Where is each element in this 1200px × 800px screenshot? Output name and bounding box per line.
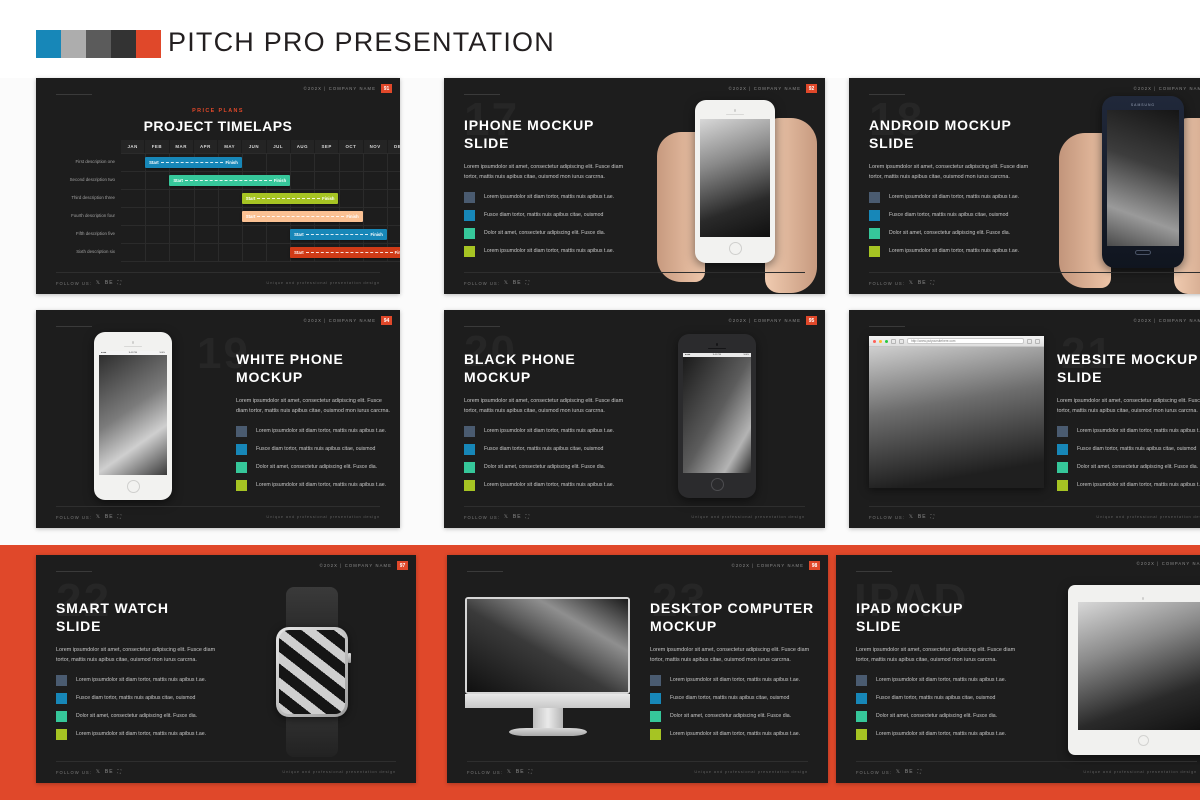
slide-meta: ©202X | COMPANY NAME 95 xyxy=(729,316,817,325)
slide-website-mockup[interactable]: ©202X | COMPANY NAME 96 21 http://www.pu… xyxy=(849,310,1200,528)
gantt-bar-connector xyxy=(306,252,393,253)
slide-paragraph: Lorem ipsumdolor sit amet, consectetur a… xyxy=(56,645,224,665)
slide-meta-text: ©202X | COMPANY NAME xyxy=(304,86,376,91)
slide-project-timelaps[interactable]: ©202X | COMPANY NAME 91 PRICE PLANS PROJ… xyxy=(36,78,400,294)
slide-ipad-mockup[interactable]: ©202X | COMPANY NAME IPAD IPAD MOCKUP SL… xyxy=(836,555,1200,783)
slide-number-badge: 94 xyxy=(381,316,392,325)
brand-swatch-2 xyxy=(61,30,86,58)
minimize-icon[interactable] xyxy=(879,340,882,343)
slide-footer: FOLLOW US: 𝕏 Be ⛶ Unique and professiona… xyxy=(36,272,400,294)
bullet-color-chip xyxy=(1057,462,1068,473)
bullet-color-chip xyxy=(650,675,661,686)
bullet-item: Fusce diam tortor, mattis nuis apibus ci… xyxy=(56,693,226,704)
website-photo xyxy=(869,347,1044,488)
bullet-text: Lorem ipsumdolor sit diam tortor, mattis… xyxy=(876,677,1006,684)
phone-screen: ●●●●9:41 PM100% xyxy=(683,353,751,473)
bullet-color-chip xyxy=(464,228,475,239)
gantt-bar[interactable]: StartFinish xyxy=(242,193,339,204)
gantt-month-cell: MAR xyxy=(170,140,194,153)
slide-cell-ipad-mockup: ©202X | COMPANY NAME IPAD IPAD MOCKUP SL… xyxy=(808,545,1200,800)
slide-heading: WEBSITE MOCKUP SLIDE xyxy=(1057,350,1200,387)
bullet-item: Lorem ipsumdolor sit diam tortor, mattis… xyxy=(869,246,1049,257)
bullet-color-chip xyxy=(236,480,247,491)
iphone-device: ●●●●9:41 PM100% xyxy=(94,332,172,500)
camera-icon xyxy=(1142,597,1145,600)
bullet-color-chip xyxy=(56,675,67,686)
browser-window-mockup: http://www.putyoursitehere.com xyxy=(869,336,1044,488)
iphone-device: ●●●●9:41 PM100% xyxy=(678,334,756,498)
gantt-bar-finish-label: Finish xyxy=(274,178,286,183)
brand-color-swatches xyxy=(36,30,161,58)
iphone-black-mockup: ●●●●9:41 PM100% xyxy=(678,334,756,498)
facebook-icon[interactable]: ⛶ xyxy=(526,514,531,520)
gantt-bar-finish-label: Finish xyxy=(322,196,334,201)
heading-line-1: IPAD MOCKUP xyxy=(856,600,963,616)
slide-cell-android-mockup: ©202X | COMPANY NAME 93 18 ANDROID MOCKU… xyxy=(808,78,1200,310)
bullet-item: Fusce diam tortor, mattis nuis apibus ci… xyxy=(464,210,644,221)
heading-line-2: SLIDE xyxy=(856,618,901,634)
gantt-task-label: Third description three xyxy=(71,195,115,200)
bullet-color-chip xyxy=(1057,426,1068,437)
bullet-item: Fusce diam tortor, mattis nuis apibus ci… xyxy=(856,693,1026,704)
follow-us: FOLLOW US: 𝕏 Be ⛶ xyxy=(464,280,530,286)
bullet-item: Lorem ipsumdolor sit diam tortor, mattis… xyxy=(856,675,1026,686)
home-button xyxy=(127,480,140,493)
home-button xyxy=(1135,250,1151,255)
imac-stand-neck xyxy=(533,708,563,728)
gantt-bar-finish-label: Finish xyxy=(346,214,358,219)
follow-label: FOLLOW US: xyxy=(464,281,500,286)
brand-swatch-5 xyxy=(136,30,161,58)
slide-heading: IPHONE MOCKUP SLIDE xyxy=(464,116,644,153)
bullet-list: Lorem ipsumdolor sit diam tortor, mattis… xyxy=(869,192,1049,257)
facebook-icon[interactable]: ⛶ xyxy=(118,280,123,286)
facebook-icon[interactable]: ⛶ xyxy=(526,280,531,286)
twitter-icon[interactable]: 𝕏 xyxy=(96,280,101,286)
imac-stand-base xyxy=(509,728,587,736)
iphone-white-mockup: ●●●●9:41 PM100% xyxy=(94,332,172,500)
bullet-list: Lorem ipsumdolor sit diam tortor, mattis… xyxy=(1057,426,1200,491)
bullet-text: Dolor sit amet, consectetur adipiscing e… xyxy=(1077,464,1198,471)
bullet-color-chip xyxy=(464,210,475,221)
bullet-item: Lorem ipsumdolor sit diam tortor, mattis… xyxy=(464,192,644,203)
bullet-color-chip xyxy=(464,462,475,473)
slide-meta-text: ©202X | COMPANY NAME xyxy=(320,563,392,568)
ipad-screen xyxy=(1078,602,1200,730)
bullet-text: Dolor sit amet, consectetur adipiscing e… xyxy=(256,464,377,471)
gantt-gridline-horizontal xyxy=(121,207,400,208)
speaker-grill xyxy=(726,114,744,116)
bullet-text: Fusce diam tortor, mattis nuis apibus ci… xyxy=(670,695,789,702)
heading-line-1: ANDROID MOCKUP xyxy=(869,117,1012,133)
bullet-item: Lorem ipsumdolor sit diam tortor, mattis… xyxy=(869,192,1049,203)
footer-tagline: Unique and professional presentation des… xyxy=(691,514,805,519)
slide-paragraph: Lorem ipsumdolor sit amet, consectetur a… xyxy=(464,396,629,416)
slide-meta-text: ©202X | COMPANY NAME xyxy=(304,318,376,323)
gantt-bar-start-label: Start xyxy=(294,232,304,237)
footer-divider xyxy=(56,761,396,762)
slide-heading: DESKTOP COMPUTER MOCKUP xyxy=(650,599,820,636)
bullet-color-chip xyxy=(56,693,67,704)
gantt-month-cell: MAY xyxy=(218,140,242,153)
ipad-mockup xyxy=(1068,585,1200,755)
slide-heading: SMART WATCH SLIDE xyxy=(56,599,226,636)
digital-crown[interactable] xyxy=(348,653,351,663)
chart-title: PROJECT TIMELAPS xyxy=(36,118,400,134)
heading-line-2: SLIDE xyxy=(869,135,914,151)
slide-meta-text: ©202X | COMPANY NAME xyxy=(1137,561,1200,566)
bullet-text: Dolor sit amet, consectetur adipiscing e… xyxy=(670,713,791,720)
bullet-color-chip xyxy=(869,228,880,239)
gantt-month-cell: JUN xyxy=(242,140,266,153)
slide-heading: IPAD MOCKUP SLIDE xyxy=(856,599,1026,636)
gantt-task-label: Fourth description four xyxy=(71,213,115,218)
follow-us: FOLLOW US: 𝕏 Be ⛶ xyxy=(856,769,922,775)
slide-heading: ANDROID MOCKUP SLIDE xyxy=(869,116,1049,153)
footer-divider xyxy=(869,272,1200,273)
gantt-month-cell: SEP xyxy=(315,140,339,153)
behance-icon[interactable]: Be xyxy=(105,514,114,520)
bullet-item: Dolor sit amet, consectetur adipiscing e… xyxy=(236,462,391,473)
screen-photo xyxy=(1107,110,1179,246)
bullet-text: Lorem ipsumdolor sit diam tortor, mattis… xyxy=(484,248,614,255)
twitter-icon[interactable]: 𝕏 xyxy=(504,280,509,286)
gantt-gridline-horizontal xyxy=(121,225,400,226)
gantt-task-label: First description one xyxy=(75,159,115,164)
follow-us: FOLLOW US: 𝕏 Be ⛶ xyxy=(56,769,122,775)
gantt-month-cell: AUG xyxy=(291,140,315,153)
slide-meta: ©202X | COMPANY NAME xyxy=(1137,561,1200,566)
slide-paragraph: Lorem ipsumdolor sit amet, consectetur a… xyxy=(856,645,1024,665)
slide-meta: ©202X | COMPANY NAME 94 xyxy=(304,316,392,325)
phone-screen xyxy=(1107,110,1179,246)
bullet-item: Dolor sit amet, consectetur adipiscing e… xyxy=(869,228,1049,239)
twitter-icon[interactable]: 𝕏 xyxy=(96,769,101,775)
bullet-list: Lorem ipsumdolor sit diam tortor, mattis… xyxy=(464,192,644,257)
footer-tagline: Unique and professional presentation des… xyxy=(1096,514,1200,519)
slide-black-phone-mockup[interactable]: ©202X | COMPANY NAME 95 20 BLACK PHONE M… xyxy=(444,310,825,528)
slide-footer: FOLLOW US: 𝕏 Be ⛶ Unique and professiona… xyxy=(444,506,825,528)
bullet-text: Dolor sit amet, consectetur adipiscing e… xyxy=(76,713,197,720)
gantt-month-cell: FEB xyxy=(145,140,169,153)
corner-tick xyxy=(56,94,92,95)
behance-icon[interactable]: Be xyxy=(516,769,525,775)
heading-line-1: WHITE PHONE xyxy=(236,351,344,367)
slide-content: WEBSITE MOCKUP SLIDE Lorem ipsumdolor si… xyxy=(1057,350,1200,491)
slide-paragraph: Lorem ipsumdolor sit amet, consectetur a… xyxy=(1057,396,1200,416)
bullet-color-chip xyxy=(650,711,661,722)
footer-tagline: Unique and professional presentation des… xyxy=(694,769,808,774)
slide-row-2: ©202X | COMPANY NAME 94 19 ●●●●9:41 PM10… xyxy=(0,310,1200,545)
chart-eyebrow: PRICE PLANS xyxy=(36,108,400,114)
bullet-text: Fusce diam tortor, mattis nuis apibus ci… xyxy=(256,446,375,453)
imac-mockup xyxy=(465,597,630,742)
bullet-color-chip xyxy=(236,444,247,455)
bullet-item: Lorem ipsumdolor sit diam tortor, mattis… xyxy=(464,246,644,257)
gantt-bar-connector xyxy=(257,216,344,217)
bullet-color-chip xyxy=(1057,480,1068,491)
bullet-item: Fusce diam tortor, mattis nuis apibus ci… xyxy=(1057,444,1200,455)
twitter-icon[interactable]: 𝕏 xyxy=(507,769,512,775)
slide-cell-white-phone: ©202X | COMPANY NAME 94 19 ●●●●9:41 PM10… xyxy=(0,310,400,545)
bullet-color-chip xyxy=(464,192,475,203)
heading-line-2: MOCKUP xyxy=(650,618,717,634)
reload-icon[interactable] xyxy=(1035,339,1040,344)
bullet-item: Dolor sit amet, consectetur adipiscing e… xyxy=(56,711,226,722)
slide-android-mockup[interactable]: ©202X | COMPANY NAME 93 18 ANDROID MOCKU… xyxy=(849,78,1200,294)
bullet-item: Lorem ipsumdolor sit diam tortor, mattis… xyxy=(1057,480,1200,491)
slide-content: SMART WATCH SLIDE Lorem ipsumdolor sit a… xyxy=(56,599,226,740)
behance-icon[interactable]: Be xyxy=(918,514,927,520)
bullet-list: Lorem ipsumdolor sit diam tortor, mattis… xyxy=(650,675,820,740)
bullet-color-chip xyxy=(856,675,867,686)
gantt-bar[interactable]: StartFinish xyxy=(290,229,387,240)
gantt-bar[interactable]: StartFinish xyxy=(145,157,242,168)
follow-us: FOLLOW US: 𝕏 Be ⛶ xyxy=(869,280,935,286)
bullet-list: Lorem ipsumdolor sit diam tortor, mattis… xyxy=(236,426,391,491)
slide-footer: FOLLOW US: 𝕏 Be ⛶ xyxy=(444,272,825,294)
bullet-text: Lorem ipsumdolor sit diam tortor, mattis… xyxy=(889,194,1019,201)
follow-label: FOLLOW US: xyxy=(56,770,92,775)
bullet-item: Lorem ipsumdolor sit diam tortor, mattis… xyxy=(56,675,226,686)
slide-meta-text: ©202X | COMPANY NAME xyxy=(1134,318,1200,323)
maximize-icon[interactable] xyxy=(885,340,888,343)
screen-photo xyxy=(99,355,167,475)
forward-icon[interactable] xyxy=(899,339,904,344)
imac-chin xyxy=(465,694,630,708)
corner-tick xyxy=(56,326,92,327)
facebook-icon[interactable]: ⛶ xyxy=(931,514,936,520)
close-icon[interactable] xyxy=(873,340,876,343)
bullet-item: Lorem ipsumdolor sit diam tortor, mattis… xyxy=(856,729,1026,740)
behance-icon[interactable]: Be xyxy=(905,769,914,775)
slide-desktop-computer-mockup[interactable]: ©202X | COMPANY NAME 98 23 DESKTOP COMPU… xyxy=(447,555,828,783)
behance-icon[interactable]: Be xyxy=(918,280,927,286)
gantt-bar-connector xyxy=(161,162,224,163)
facebook-icon[interactable]: ⛶ xyxy=(918,769,923,775)
gantt-bar-start-label: Start xyxy=(294,250,304,255)
twitter-icon[interactable]: 𝕏 xyxy=(504,514,509,520)
bullet-text: Lorem ipsumdolor sit diam tortor, mattis… xyxy=(256,428,386,435)
bullet-text: Lorem ipsumdolor sit diam tortor, mattis… xyxy=(256,482,386,489)
bullet-text: Fusce diam tortor, mattis nuis apibus ci… xyxy=(76,695,195,702)
slide-content: DESKTOP COMPUTER MOCKUP Lorem ipsumdolor… xyxy=(650,599,820,740)
camera-icon xyxy=(132,341,135,344)
home-button xyxy=(711,478,724,491)
bullet-item: Lorem ipsumdolor sit diam tortor, mattis… xyxy=(650,729,820,740)
apple-watch-mockup xyxy=(258,587,368,757)
bullet-color-chip xyxy=(856,711,867,722)
bullet-item: Dolor sit amet, consectetur adipiscing e… xyxy=(464,462,629,473)
heading-line-2: SLIDE xyxy=(464,135,509,151)
bullet-text: Lorem ipsumdolor sit diam tortor, mattis… xyxy=(484,482,614,489)
slide-paragraph: Lorem ipsumdolor sit amet, consectetur a… xyxy=(869,162,1037,182)
slide-row-3: ©202X | COMPANY NAME 97 22 SMART WATCH S… xyxy=(0,545,1200,800)
brand-swatch-4 xyxy=(111,30,136,58)
gantt-task-label: Second description two xyxy=(70,177,115,182)
bullet-color-chip xyxy=(464,444,475,455)
gantt-task-label: Sixth description six xyxy=(76,249,115,254)
iphone-device xyxy=(695,100,775,263)
bullet-color-chip xyxy=(464,480,475,491)
slide-meta: ©202X | COMPANY NAME 97 xyxy=(320,561,408,570)
share-icon[interactable] xyxy=(1027,339,1032,344)
behance-icon[interactable]: Be xyxy=(105,769,114,775)
twitter-icon[interactable]: 𝕏 xyxy=(896,769,901,775)
follow-label: FOLLOW US: xyxy=(869,515,905,520)
bullet-color-chip xyxy=(56,711,67,722)
back-icon[interactable] xyxy=(891,339,896,344)
footer-tagline: Unique and professional presentation des… xyxy=(266,514,380,519)
footer-tagline: Unique and professional presentation des… xyxy=(282,769,396,774)
gantt-bar-connector xyxy=(306,234,369,235)
bullet-item: Fusce diam tortor, mattis nuis apibus ci… xyxy=(236,444,391,455)
follow-us: FOLLOW US: 𝕏 Be ⛶ xyxy=(869,514,935,520)
slide-white-phone-mockup[interactable]: ©202X | COMPANY NAME 94 19 ●●●●9:41 PM10… xyxy=(36,310,400,528)
behance-icon[interactable]: Be xyxy=(513,514,522,520)
slide-footer: FOLLOW US: 𝕏 Be ⛶ xyxy=(849,272,1200,294)
speaker-grill xyxy=(708,348,726,350)
bullet-item: Fusce diam tortor, mattis nuis apibus ci… xyxy=(650,693,820,704)
twitter-icon[interactable]: 𝕏 xyxy=(909,280,914,286)
watch-case xyxy=(276,627,348,717)
footer-divider xyxy=(56,506,380,507)
bullet-color-chip xyxy=(869,210,880,221)
slide-heading: BLACK PHONE MOCKUP xyxy=(464,350,629,387)
facebook-icon[interactable]: ⛶ xyxy=(529,769,534,775)
slide-paragraph: Lorem ipsumdolor sit amet, consectetur a… xyxy=(236,396,391,416)
slide-number-badge: 91 xyxy=(381,84,392,93)
bullet-text: Fusce diam tortor, mattis nuis apibus ci… xyxy=(876,695,995,702)
gantt-bar-connector xyxy=(257,198,320,199)
bullet-text: Lorem ipsumdolor sit diam tortor, mattis… xyxy=(76,677,206,684)
bullet-color-chip xyxy=(464,426,475,437)
bullet-text: Dolor sit amet, consectetur adipiscing e… xyxy=(889,230,1010,237)
home-button xyxy=(1138,735,1149,746)
phone-screen xyxy=(700,119,770,237)
heading-line-2: MOCKUP xyxy=(464,369,531,385)
slide-footer: FOLLOW US: 𝕏 Be ⛶ Unique and professiona… xyxy=(849,506,1200,528)
bullet-color-chip xyxy=(650,729,661,740)
footer-divider xyxy=(467,761,808,762)
slide-content: WHITE PHONE MOCKUP Lorem ipsumdolor sit … xyxy=(236,350,391,491)
bullet-text: Fusce diam tortor, mattis nuis apibus ci… xyxy=(484,212,603,219)
bullet-text: Lorem ipsumdolor sit diam tortor, mattis… xyxy=(484,194,614,201)
facebook-icon[interactable]: ⛶ xyxy=(931,280,936,286)
slide-footer: FOLLOW US: 𝕏 Be ⛶ Unique and professiona… xyxy=(36,761,416,783)
bullet-color-chip xyxy=(650,693,661,704)
gantt-bar[interactable]: StartFinish xyxy=(290,247,400,258)
behance-icon[interactable]: Be xyxy=(513,280,522,286)
bullet-item: Lorem ipsumdolor sit diam tortor, mattis… xyxy=(464,426,629,437)
facebook-icon[interactable]: ⛶ xyxy=(118,769,123,775)
twitter-icon[interactable]: 𝕏 xyxy=(909,514,914,520)
slide-heading: WHITE PHONE MOCKUP xyxy=(236,350,391,387)
screen-photo xyxy=(700,119,770,237)
bullet-item: Lorem ipsumdolor sit diam tortor, mattis… xyxy=(236,480,391,491)
slide-content: IPHONE MOCKUP SLIDE Lorem ipsumdolor sit… xyxy=(464,116,644,257)
bullet-color-chip xyxy=(1057,444,1068,455)
page-header: PITCH PRO PRESENTATION xyxy=(0,0,1200,78)
twitter-icon[interactable]: 𝕏 xyxy=(96,514,101,520)
footer-divider xyxy=(464,506,805,507)
bullet-text: Dolor sit amet, consectetur adipiscing e… xyxy=(876,713,997,720)
footer-tagline: Unique and professional presentation des… xyxy=(1083,769,1197,774)
corner-tick xyxy=(869,326,905,327)
slide-meta-text: ©202X | COMPANY NAME xyxy=(729,318,801,323)
footer-divider xyxy=(869,506,1200,507)
gantt-gridline-horizontal xyxy=(121,153,400,154)
heading-line-1: WEBSITE MOCKUP xyxy=(1057,351,1198,367)
bullet-text: Fusce diam tortor, mattis nuis apibus ci… xyxy=(1077,446,1196,453)
url-bar[interactable]: http://www.putyoursitehere.com xyxy=(907,338,1024,344)
gantt-month-cell: OCT xyxy=(339,140,363,153)
bullet-text: Fusce diam tortor, mattis nuis apibus ci… xyxy=(889,212,1008,219)
home-button xyxy=(729,242,742,255)
bullet-text: Lorem ipsumdolor sit diam tortor, mattis… xyxy=(670,677,800,684)
bullet-text: Lorem ipsumdolor sit diam tortor, mattis… xyxy=(1077,482,1200,489)
slide-paragraph: Lorem ipsumdolor sit amet, consectetur a… xyxy=(650,645,818,665)
gantt-bar-start-label: Start xyxy=(149,160,159,165)
slide-smart-watch[interactable]: ©202X | COMPANY NAME 97 22 SMART WATCH S… xyxy=(36,555,416,783)
behance-icon[interactable]: Be xyxy=(105,280,114,286)
corner-tick xyxy=(56,571,92,572)
gantt-task-label: Fifth description five xyxy=(76,231,115,236)
gantt-bar[interactable]: StartFinish xyxy=(169,175,290,186)
screen-photo xyxy=(683,357,751,473)
bullet-item: Lorem ipsumdolor sit diam tortor, mattis… xyxy=(1057,426,1200,437)
samsung-brand-label: SAMSUNG xyxy=(1107,103,1179,107)
slide-cell-iphone-mockup: ©202X | COMPANY NAME 92 17 IPHONE MOCKUP… xyxy=(400,78,808,310)
bullet-item: Lorem ipsumdolor sit diam tortor, mattis… xyxy=(650,675,820,686)
slide-cell-black-phone: ©202X | COMPANY NAME 95 20 BLACK PHONE M… xyxy=(400,310,808,545)
screen-photo xyxy=(467,599,628,692)
gantt-gridline-horizontal xyxy=(121,189,400,190)
brand-swatch-3 xyxy=(86,30,111,58)
bullet-color-chip xyxy=(856,693,867,704)
gantt-bar[interactable]: StartFinish xyxy=(242,211,363,222)
bullet-color-chip xyxy=(464,246,475,257)
gantt-month-header: JANFEBMARAPRMAYJUNJULAUGSEPOCTNOVDEC xyxy=(121,140,400,153)
bullet-item: Dolor sit amet, consectetur adipiscing e… xyxy=(650,711,820,722)
follow-us: FOLLOW US: 𝕏 Be ⛶ xyxy=(464,514,530,520)
gantt-gridline-horizontal xyxy=(121,243,400,244)
samsung-device: SAMSUNG xyxy=(1102,96,1184,268)
follow-label: FOLLOW US: xyxy=(467,770,503,775)
bullet-text: Lorem ipsumdolor sit diam tortor, mattis… xyxy=(876,731,1006,738)
facebook-icon[interactable]: ⛶ xyxy=(118,514,123,520)
page-title: PITCH PRO PRESENTATION xyxy=(168,27,555,58)
watch-face-photo xyxy=(279,630,345,714)
watch-screen xyxy=(279,630,345,714)
heading-line-1: IPHONE MOCKUP xyxy=(464,117,594,133)
bullet-item: Dolor sit amet, consectetur adipiscing e… xyxy=(464,228,644,239)
gantt-bar-start-label: Start xyxy=(246,214,256,219)
browser-toolbar: http://www.putyoursitehere.com xyxy=(869,336,1044,347)
gantt-gridline-horizontal xyxy=(121,261,400,262)
speaker-grill xyxy=(124,346,142,348)
follow-label: FOLLOW US: xyxy=(56,281,92,286)
gantt-month-cell: DEC xyxy=(388,140,400,153)
slide-row-1: ©202X | COMPANY NAME 91 PRICE PLANS PROJ… xyxy=(0,78,1200,310)
bullet-text: Lorem ipsumdolor sit diam tortor, mattis… xyxy=(889,248,1019,255)
browser-viewport xyxy=(869,347,1044,488)
footer-divider xyxy=(856,761,1197,762)
bullet-color-chip xyxy=(236,462,247,473)
heading-line-1: DESKTOP COMPUTER xyxy=(650,600,814,616)
slide-iphone-mockup[interactable]: ©202X | COMPANY NAME 92 17 IPHONE MOCKUP… xyxy=(444,78,825,294)
heading-line-1: BLACK PHONE xyxy=(464,351,575,367)
